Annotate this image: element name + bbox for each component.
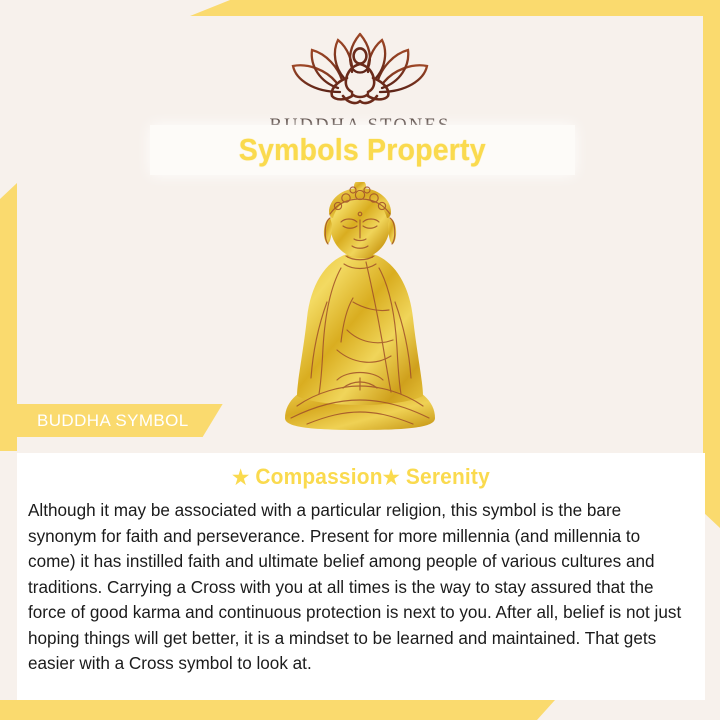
content-subtitle: ★ Compassion★ Serenity bbox=[34, 464, 688, 490]
subtitle-serenity: Serenity bbox=[406, 464, 490, 489]
seated-golden-buddha-illustration bbox=[267, 182, 453, 434]
symbol-tag-label: BUDDHA SYMBOL bbox=[37, 411, 189, 431]
symbol-tag: BUDDHA SYMBOL bbox=[17, 404, 223, 437]
star-icon-right: ★ bbox=[383, 467, 400, 489]
decorative-left-bar bbox=[0, 183, 17, 451]
decorative-bottom-band bbox=[0, 700, 555, 720]
header-section: BUDDHA STONES Symbols Property bbox=[17, 16, 703, 436]
decorative-right-bar bbox=[703, 16, 720, 528]
content-card: ★ Compassion★ Serenity Although it may b… bbox=[17, 453, 705, 700]
infographic-page: BUDDHA STONES Symbols Property bbox=[0, 0, 720, 720]
title-banner: Symbols Property bbox=[150, 125, 575, 175]
content-body: Although it may be associated with a par… bbox=[28, 498, 684, 677]
hero-image bbox=[17, 184, 703, 434]
star-icon-left: ★ bbox=[232, 467, 249, 489]
brand-logo: BUDDHA STONES bbox=[17, 30, 703, 137]
subtitle-compassion: Compassion bbox=[255, 464, 382, 489]
page-title: Symbols Property bbox=[239, 132, 486, 168]
decorative-top-band bbox=[190, 0, 720, 16]
lotus-meditation-icon bbox=[280, 30, 440, 108]
